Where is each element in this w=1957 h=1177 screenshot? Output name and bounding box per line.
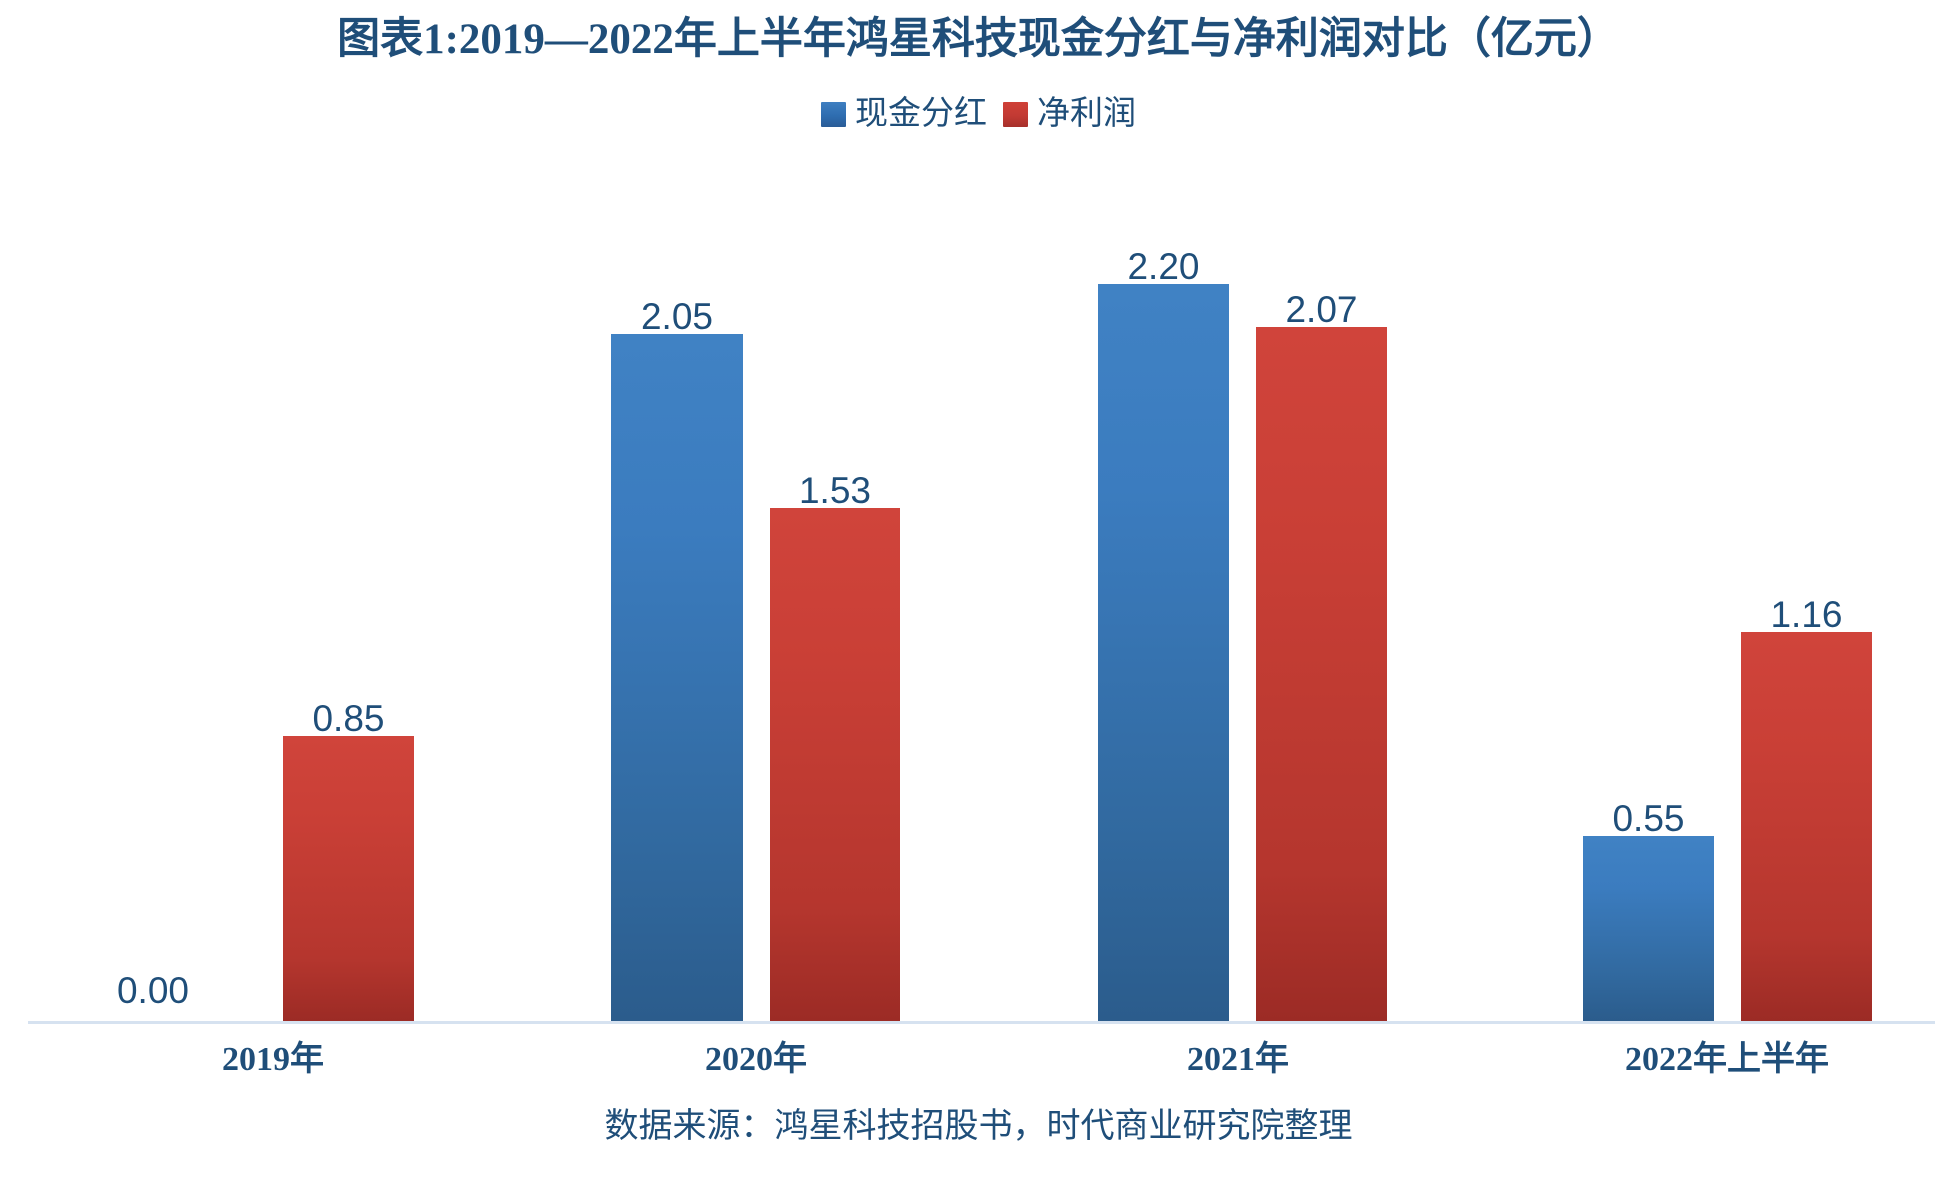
bar-value-cash-dividend-2020: 2.05 xyxy=(611,298,743,335)
bar-cash-dividend-2022h1[interactable] xyxy=(1583,836,1714,1021)
category-label-2019: 2019年 xyxy=(148,1040,398,1080)
bar-cash-dividend-2020[interactable] xyxy=(611,334,743,1021)
bar-value-cash-dividend-2022h1: 0.55 xyxy=(1583,800,1714,837)
bar-value-net-profit-2021: 2.07 xyxy=(1256,291,1387,328)
bar-net-profit-2021[interactable] xyxy=(1256,327,1387,1021)
bar-value-cash-dividend-2019: 0.00 xyxy=(88,972,218,1009)
bar-value-cash-dividend-2021: 2.20 xyxy=(1098,248,1229,285)
bar-net-profit-2019[interactable] xyxy=(283,736,414,1021)
bar-value-net-profit-2022h1: 1.16 xyxy=(1741,596,1872,633)
bar-value-net-profit-2019: 0.85 xyxy=(283,700,414,737)
bar-value-net-profit-2020: 1.53 xyxy=(770,472,900,509)
category-label-2022h1: 2022年上半年 xyxy=(1602,1040,1852,1080)
bar-cash-dividend-2021[interactable] xyxy=(1098,284,1229,1021)
bar-net-profit-2020[interactable] xyxy=(770,508,900,1021)
category-label-2020: 2020年 xyxy=(631,1040,881,1080)
chart-container: 图表1:2019—2022年上半年鸿星科技现金分红与净利润对比（亿元） 现金分红… xyxy=(0,0,1957,1177)
x-axis-line xyxy=(28,1021,1935,1024)
source-note: 数据来源：鸿星科技招股书，时代商业研究院整理 xyxy=(0,1106,1957,1148)
plot-area: 0.00 0.85 2019年 2.05 1.53 2020年 2.20 2.0… xyxy=(0,0,1957,1177)
category-label-2021: 2021年 xyxy=(1113,1040,1363,1080)
bar-net-profit-2022h1[interactable] xyxy=(1741,632,1872,1021)
